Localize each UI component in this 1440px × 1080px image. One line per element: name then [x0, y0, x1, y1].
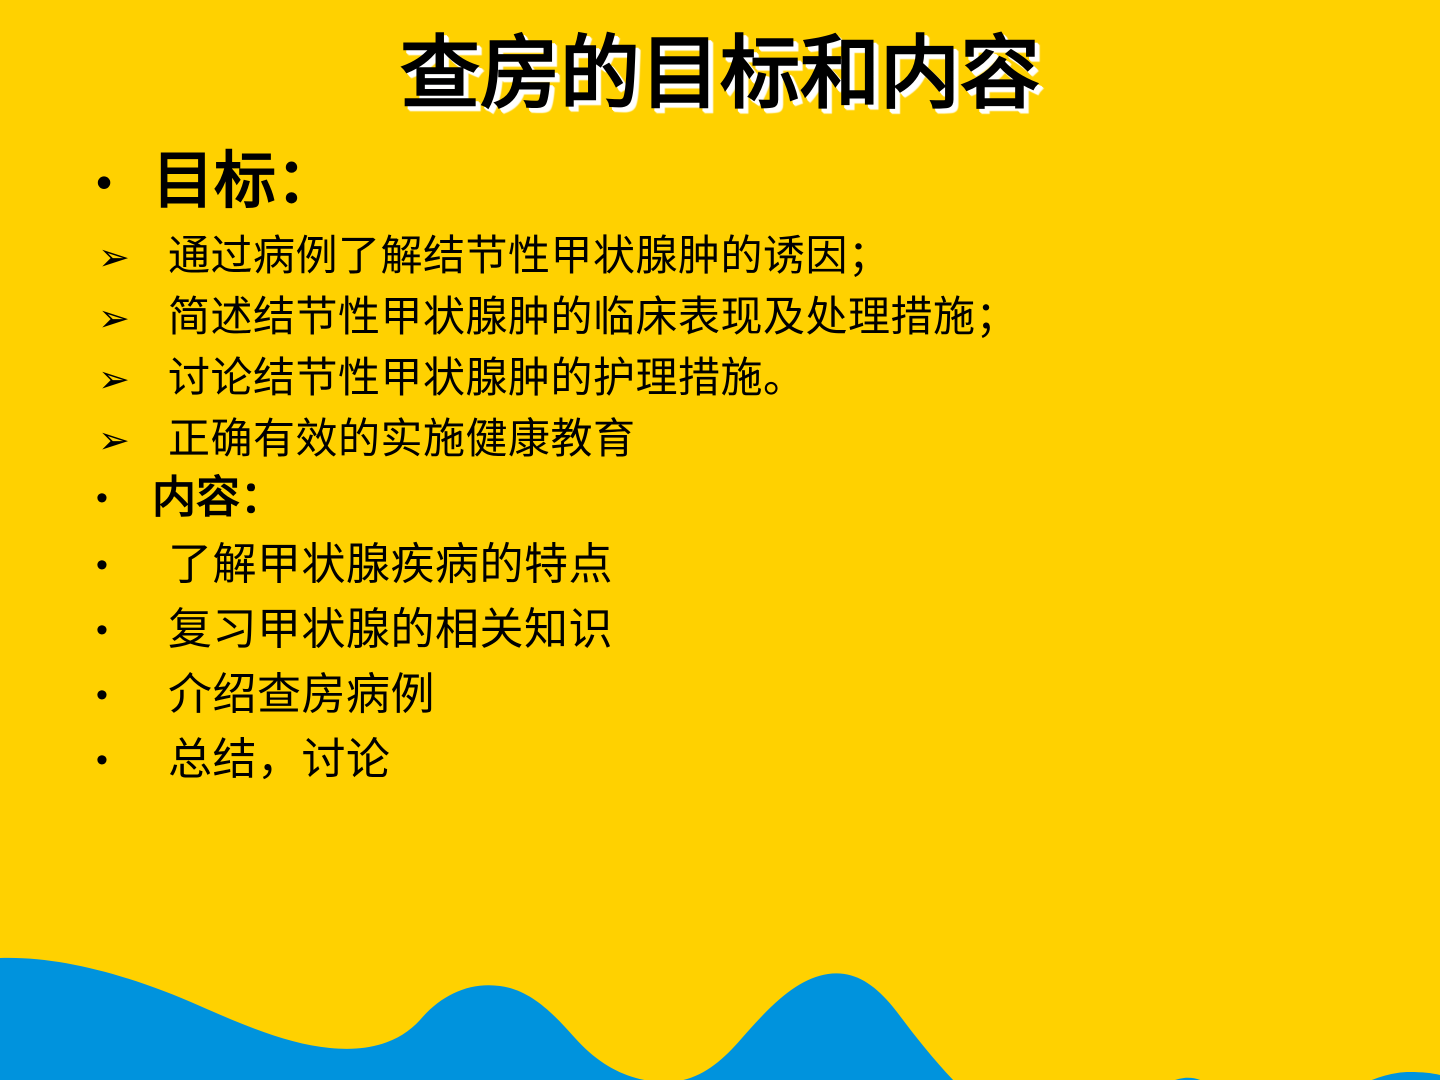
section-heading-content-label: 内容： — [152, 472, 284, 524]
section-heading-content: • 内容： — [0, 472, 1440, 534]
arrow-bullet-icon: ➢ — [98, 350, 168, 408]
bullet-dot-icon: • — [96, 599, 168, 661]
list-item: ➢ 简述结节性甲状腺肿的临床表现及处理措施； — [0, 289, 1440, 350]
list-item-label: 简述结节性甲状腺肿的临床表现及处理措施； — [168, 289, 1018, 347]
list-item: • 总结，讨论 — [0, 729, 1440, 794]
list-item-label: 总结，讨论 — [168, 729, 391, 791]
section-heading-goal: • 目标： — [0, 146, 1440, 228]
list-item: • 介绍查房病例 — [0, 664, 1440, 729]
list-item: ➢ 正确有效的实施健康教育 — [0, 411, 1440, 472]
slide-title-container: 查房的目标和内容 — [0, 34, 1440, 114]
list-item-label: 了解甲状腺疾病的特点 — [168, 534, 613, 596]
list-item: • 复习甲状腺的相关知识 — [0, 599, 1440, 664]
list-item-label: 介绍查房病例 — [168, 664, 435, 726]
bullet-dot-icon: • — [96, 729, 168, 791]
list-item-label: 通过病例了解结节性甲状腺肿的诱因； — [168, 228, 891, 286]
slide-body: • 目标： ➢ 通过病例了解结节性甲状腺肿的诱因； ➢ 简述结节性甲状腺肿的临床… — [0, 146, 1440, 794]
arrow-bullet-icon: ➢ — [98, 289, 168, 347]
list-item: ➢ 讨论结节性甲状腺肿的护理措施。 — [0, 350, 1440, 411]
list-item-label: 正确有效的实施健康教育 — [168, 411, 636, 469]
arrow-bullet-icon: ➢ — [98, 228, 168, 286]
list-item-label: 讨论结节性甲状腺肿的护理措施。 — [168, 350, 806, 408]
list-item: • 了解甲状腺疾病的特点 — [0, 534, 1440, 599]
section-heading-goal-label: 目标： — [152, 146, 338, 218]
bullet-dot-icon: • — [96, 472, 152, 524]
list-item: ➢ 通过病例了解结节性甲状腺肿的诱因； — [0, 228, 1440, 289]
bullet-dot-icon: • — [96, 534, 168, 596]
page-title: 查房的目标和内容 — [400, 34, 1040, 114]
arrow-bullet-icon: ➢ — [98, 411, 168, 469]
bottom-wave-decoration — [0, 920, 1440, 1080]
bullet-dot-icon: • — [96, 146, 152, 218]
slide-canvas: 查房的目标和内容 • 目标： ➢ 通过病例了解结节性甲状腺肿的诱因； ➢ 简述结… — [0, 0, 1440, 1080]
list-item-label: 复习甲状腺的相关知识 — [168, 599, 613, 661]
bullet-dot-icon: • — [96, 664, 168, 726]
